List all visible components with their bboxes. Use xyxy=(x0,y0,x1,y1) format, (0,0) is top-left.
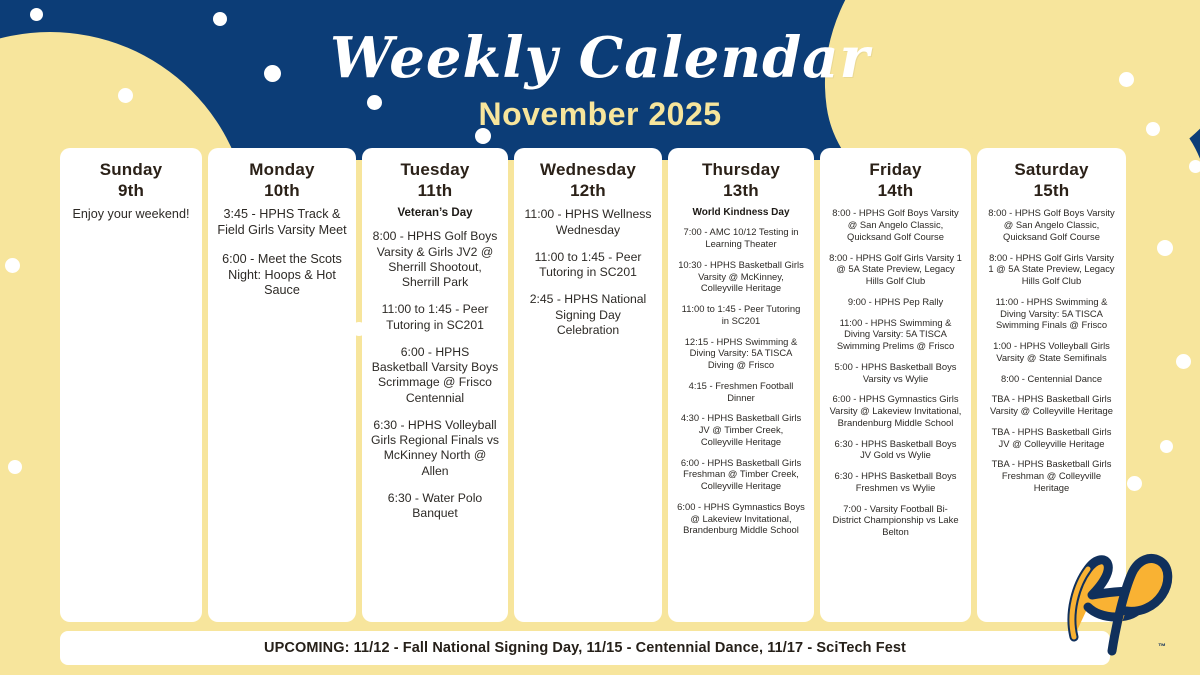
upcoming-text: UPCOMING: 11/12 - Fall National Signing … xyxy=(264,640,906,656)
day-column-thursday[interactable]: Thursday13thWorld Kindness Day7:00 - AMC… xyxy=(668,148,814,622)
event-item[interactable]: 11:00 to 1:45 - Peer Tutoring in SC201 xyxy=(371,302,499,333)
event-item[interactable]: 11:00 to 1:45 - Peer Tutoring in SC201 xyxy=(523,250,653,281)
event-item[interactable]: 9:00 - HPHS Pep Rally xyxy=(829,296,962,308)
day-column-monday[interactable]: Monday10th3:45 - HPHS Track & Field Girl… xyxy=(208,148,356,622)
event-list: 8:00 - HPHS Golf Boys Varsity @ San Ange… xyxy=(829,207,962,547)
confetti-dot xyxy=(8,460,22,474)
day-column-friday[interactable]: Friday14th8:00 - HPHS Golf Boys Varsity … xyxy=(820,148,971,622)
event-item[interactable]: 6:00 - HPHS Gymnastics Girls Varsity @ L… xyxy=(829,393,962,428)
confetti-dot xyxy=(1176,354,1191,369)
day-header: Sunday9th xyxy=(69,160,193,201)
event-item[interactable]: 12:15 - HPHS Swimming & Diving Varsity: … xyxy=(677,336,805,371)
trademark-mark: ™ xyxy=(1158,642,1166,651)
event-item[interactable]: 11:00 - HPHS Wellness Wednesday xyxy=(523,207,653,238)
event-item[interactable]: 2:45 - HPHS National Signing Day Celebra… xyxy=(523,292,653,338)
day-column-sunday[interactable]: Sunday9thEnjoy your weekend! xyxy=(60,148,202,622)
day-column-tuesday[interactable]: Tuesday11thVeteran’s Day8:00 - HPHS Golf… xyxy=(362,148,508,622)
day-header: Monday10th xyxy=(217,160,347,201)
day-date: 10th xyxy=(217,181,347,202)
event-item[interactable]: 4:15 - Freshmen Football Dinner xyxy=(677,380,805,404)
event-list: 11:00 - HPHS Wellness Wednesday11:00 to … xyxy=(523,207,653,350)
event-list: 8:00 - HPHS Golf Boys Varsity @ San Ange… xyxy=(986,207,1117,502)
confetti-dot xyxy=(30,8,43,21)
event-item[interactable]: Enjoy your weekend! xyxy=(69,207,193,223)
day-date: 12th xyxy=(523,181,653,202)
day-date: 15th xyxy=(986,181,1117,202)
event-item[interactable]: 8:00 - HPHS Golf Boys Varsity & Girls JV… xyxy=(371,229,499,290)
event-item[interactable]: 11:00 - HPHS Swimming & Diving Varsity: … xyxy=(829,317,962,352)
event-item[interactable]: 6:00 - HPHS Basketball Varsity Boys Scri… xyxy=(371,345,499,406)
event-item[interactable]: 11:00 - HPHS Swimming & Diving Varsity: … xyxy=(986,296,1117,331)
confetti-dot xyxy=(367,95,382,110)
day-date: 14th xyxy=(829,181,962,202)
event-item[interactable]: 8:00 - Centennial Dance xyxy=(986,373,1117,385)
day-date: 9th xyxy=(69,181,193,202)
event-item[interactable]: 1:00 - HPHS Volleyball Girls Varsity @ S… xyxy=(986,340,1117,364)
event-item[interactable]: 6:30 - HPHS Basketball Boys Freshmen vs … xyxy=(829,470,962,494)
event-list: 8:00 - HPHS Golf Boys Varsity & Girls JV… xyxy=(371,229,499,533)
event-item[interactable]: 7:00 - AMC 10/12 Testing in Learning The… xyxy=(677,226,805,250)
event-item[interactable]: TBA - HPHS Basketball Girls JV @ Colleyv… xyxy=(986,426,1117,450)
day-name: Monday xyxy=(249,160,314,179)
day-name: Thursday xyxy=(702,160,780,179)
event-list: 7:00 - AMC 10/12 Testing in Learning The… xyxy=(677,226,805,545)
day-column-wednesday[interactable]: Wednesday12th11:00 - HPHS Wellness Wedne… xyxy=(514,148,662,622)
confetti-dot xyxy=(1146,122,1160,136)
event-item[interactable]: 6:00 - HPHS Basketball Girls Freshman @ … xyxy=(677,457,805,492)
day-header: Friday14th xyxy=(829,160,962,201)
day-name: Saturday xyxy=(1014,160,1088,179)
day-header: Tuesday11th xyxy=(371,160,499,201)
event-item[interactable]: 6:30 - HPHS Basketball Boys JV Gold vs W… xyxy=(829,438,962,462)
event-item[interactable]: 11:00 to 1:45 - Peer Tutoring in SC201 xyxy=(677,303,805,327)
event-item[interactable]: 8:00 - HPHS Golf Girls Varsity 1 @ 5A St… xyxy=(986,252,1117,287)
confetti-dot xyxy=(5,258,20,273)
event-list: 3:45 - HPHS Track & Field Girls Varsity … xyxy=(217,207,347,312)
day-header: Thursday13th xyxy=(677,160,805,201)
week-grid: Sunday9thEnjoy your weekend!Monday10th3:… xyxy=(60,148,1140,622)
upcoming-banner: UPCOMING: 11/12 - Fall National Signing … xyxy=(60,631,1110,665)
event-item[interactable]: 10:30 - HPHS Basketball Girls Varsity @ … xyxy=(677,259,805,294)
day-name: Wednesday xyxy=(540,160,636,179)
event-item[interactable]: TBA - HPHS Basketball Girls Freshman @ C… xyxy=(986,458,1117,493)
day-header: Saturday15th xyxy=(986,160,1117,201)
confetti-dot xyxy=(118,88,133,103)
event-item[interactable]: 4:30 - HPHS Basketball Girls JV @ Timber… xyxy=(677,412,805,447)
event-item[interactable]: 6:30 - Water Polo Banquet xyxy=(371,491,499,522)
confetti-dot xyxy=(1157,240,1173,256)
day-special-observance: World Kindness Day xyxy=(677,207,805,218)
confetti-dot xyxy=(1189,160,1200,173)
confetti-dot xyxy=(1160,440,1173,453)
confetti-dot xyxy=(1119,72,1134,87)
day-date: 11th xyxy=(371,181,499,202)
event-item[interactable]: 8:00 - HPHS Golf Girls Varsity 1 @ 5A St… xyxy=(829,252,962,287)
confetti-dot xyxy=(475,128,491,144)
day-name: Friday xyxy=(869,160,921,179)
event-item[interactable]: 8:00 - HPHS Golf Boys Varsity @ San Ange… xyxy=(829,207,962,242)
event-item[interactable]: TBA - HPHS Basketball Girls Varsity @ Co… xyxy=(986,393,1117,417)
event-item[interactable]: 6:30 - HPHS Volleyball Girls Regional Fi… xyxy=(371,418,499,479)
day-header: Wednesday12th xyxy=(523,160,653,201)
event-item[interactable]: 6:00 - Meet the Scots Night: Hoops & Hot… xyxy=(217,252,347,299)
event-item[interactable]: 3:45 - HPHS Track & Field Girls Varsity … xyxy=(217,207,347,238)
event-list: Enjoy your weekend! xyxy=(69,207,193,236)
event-item[interactable]: 5:00 - HPHS Basketball Boys Varsity vs W… xyxy=(829,361,962,385)
event-item[interactable]: 6:00 - HPHS Gymnastics Boys @ Lakeview I… xyxy=(677,501,805,536)
confetti-dot xyxy=(213,12,227,26)
hp-logo: ™ xyxy=(1042,533,1192,673)
day-special-observance: Veteran’s Day xyxy=(371,207,499,219)
event-item[interactable]: 7:00 - Varsity Football Bi-District Cham… xyxy=(829,503,962,538)
day-date: 13th xyxy=(677,181,805,202)
day-name: Tuesday xyxy=(400,160,469,179)
day-name: Sunday xyxy=(100,160,163,179)
event-item[interactable]: 8:00 - HPHS Golf Boys Varsity @ San Ange… xyxy=(986,207,1117,242)
confetti-dot xyxy=(264,65,281,82)
